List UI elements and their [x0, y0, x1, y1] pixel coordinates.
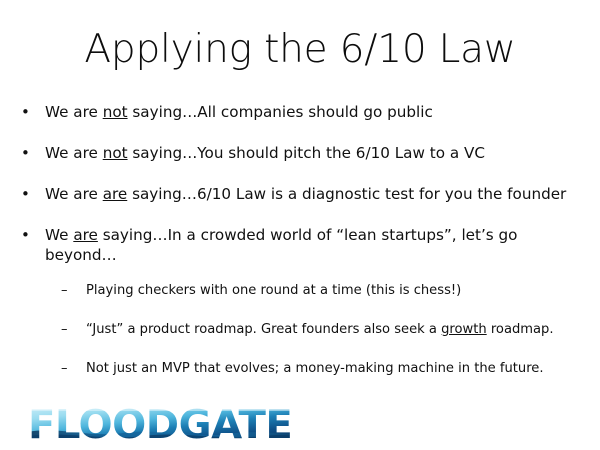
- sub-list-item-text-underlined: growth: [441, 322, 487, 337]
- dash-marker: –: [61, 321, 68, 339]
- bullet-marker: •: [21, 102, 30, 122]
- sub-list-item-text-pre: “Just” a product roadmap. Great founders…: [86, 322, 441, 337]
- list-item-text-post: saying…In a crowded world of “lean start…: [45, 226, 517, 264]
- list-item-text-post: saying…All companies should go public: [128, 103, 433, 121]
- bullet-list: • We are not saying…All companies should…: [18, 102, 584, 378]
- list-item: • We are not saying…You should pitch the…: [18, 143, 584, 163]
- bullet-marker: •: [21, 225, 30, 245]
- dash-marker: –: [61, 360, 68, 378]
- list-item-text-pre: We are: [45, 185, 103, 203]
- sub-list-item: – “Just” a product roadmap. Great founde…: [57, 321, 584, 339]
- list-item-text-pre: We: [45, 226, 73, 244]
- bullet-marker: •: [21, 143, 30, 163]
- sub-list-item-text-post: roadmap.: [487, 322, 554, 337]
- logo-wordmark-fill: [28, 405, 318, 447]
- sub-list-item-text-pre: Not just an MVP that evolves; a money-ma…: [86, 361, 544, 376]
- sub-bullet-list: – Playing checkers with one round at a t…: [57, 282, 584, 378]
- sub-list-item: – Not just an MVP that evolves; a money-…: [57, 360, 584, 378]
- slide: Applying the 6/10 Law • We are not sayin…: [0, 0, 600, 450]
- list-item-text-underlined: are: [73, 226, 98, 244]
- list-item-text-underlined: are: [103, 185, 128, 203]
- list-item-text-pre: We are: [45, 144, 103, 162]
- list-item: • We are saying…In a crowded world of “l…: [18, 225, 584, 378]
- list-item-text-post: saying…6/10 Law is a diagnostic test for…: [127, 185, 566, 203]
- list-item-text-underlined: not: [103, 144, 128, 162]
- list-item: • We are not saying…All companies should…: [18, 102, 584, 122]
- list-item-text-underlined: not: [103, 103, 128, 121]
- dash-marker: –: [61, 282, 68, 300]
- list-item-text-pre: We are: [45, 103, 103, 121]
- bullet-marker: •: [21, 184, 30, 204]
- list-item: • We are are saying…6/10 Law is a diagno…: [18, 184, 584, 204]
- floodgate-logo: FLOODGATE FLOODGATE: [28, 405, 318, 447]
- sub-list-item-text-pre: Playing checkers with one round at a tim…: [86, 283, 461, 298]
- sub-list-item: – Playing checkers with one round at a t…: [57, 282, 584, 300]
- list-item-text-post: saying…You should pitch the 6/10 Law to …: [128, 144, 485, 162]
- page-title: Applying the 6/10 Law: [0, 26, 600, 74]
